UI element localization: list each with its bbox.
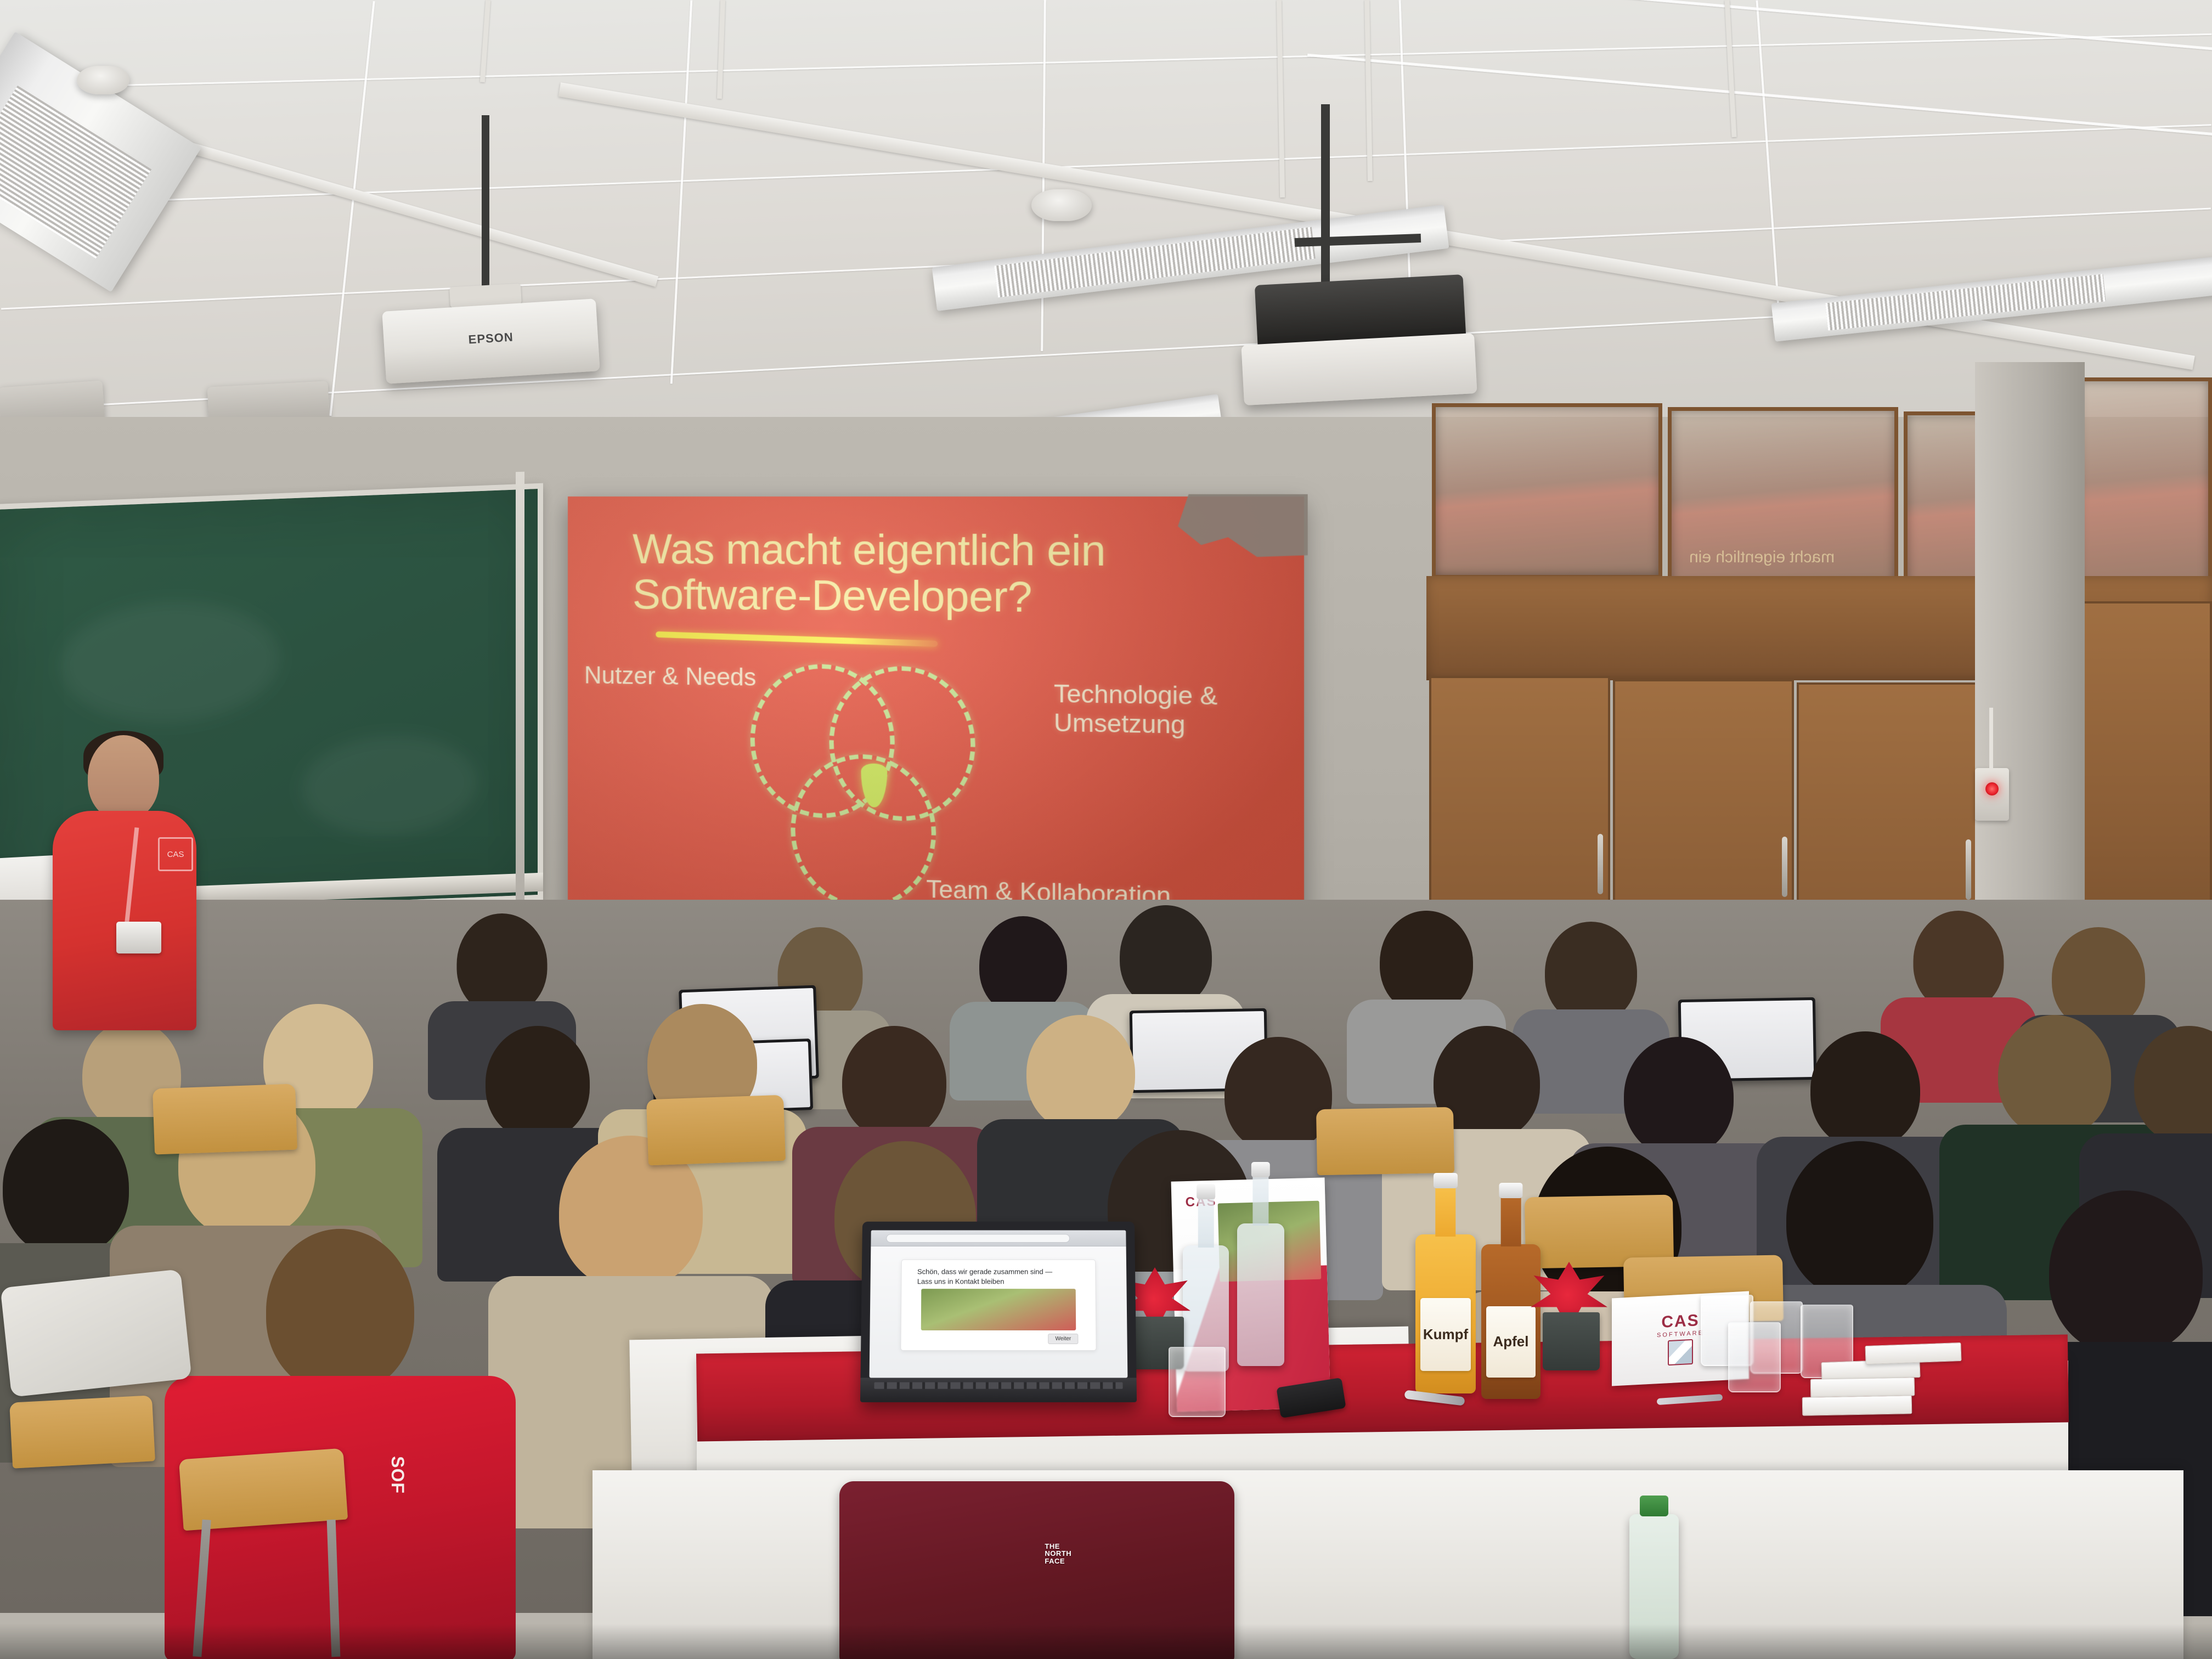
water-bottle[interactable] (1237, 1223, 1284, 1366)
plant-pot (1543, 1312, 1600, 1370)
presenter-head (88, 735, 159, 820)
chair[interactable] (9, 1395, 155, 1468)
webpage-heading: Schön, dass wir gerade zusammen sind — L… (917, 1267, 1080, 1286)
webpage-heading-line-2: Lass uns in Kontakt bleiben (917, 1277, 1080, 1286)
chair[interactable] (646, 1095, 786, 1166)
slide-title-line-2: Software-Developer? (633, 572, 1231, 623)
ceiling (0, 0, 2212, 450)
wall-panel-device[interactable] (1975, 768, 2009, 821)
webpage-card: Schön, dass wir gerade zusammen sind — L… (901, 1260, 1097, 1351)
cabinet-glass-door[interactable] (1432, 403, 1662, 579)
hoodie-logo-side-text: SOF (387, 1456, 408, 1494)
demo-laptop-screen[interactable]: Schön, dass wir gerade zusammen sind — L… (870, 1230, 1128, 1378)
juice-bottle-brand-label: Kumpf (1420, 1298, 1471, 1371)
north-face-logo-line-3: FACE (1045, 1558, 1071, 1565)
draped-cloth (0, 1269, 191, 1397)
slide-title: Was macht eigentlich ein Software-Develo… (633, 527, 1231, 623)
lecture-hall-photo: EPSON Was macht eigentlich ein Software-… (0, 0, 2212, 1659)
ceiling-tile-seam (670, 0, 693, 383)
webpage-heading-line-1: Schön, dass wir gerade zusammen sind — (917, 1267, 1080, 1277)
ceiling-rod (717, 0, 725, 99)
drinking-glass[interactable] (1728, 1322, 1781, 1392)
chair[interactable] (153, 1084, 297, 1154)
chair[interactable] (179, 1448, 348, 1531)
cabinet-handle[interactable] (1966, 839, 1971, 900)
wall-device-cable (1989, 708, 1993, 769)
ceiling-tile-seam (329, 1, 375, 416)
juice-bottle-orange[interactable]: Kumpf (1415, 1234, 1476, 1393)
juice-bottle-apple[interactable]: Apfel (1481, 1244, 1541, 1399)
chair[interactable] (1316, 1107, 1454, 1175)
projector-base (1241, 333, 1477, 405)
venn-label-technology-line-1: Technologie & (1054, 680, 1217, 711)
ceiling-tile-seam (1756, 1, 1779, 307)
bottle-cap (1499, 1183, 1522, 1198)
venn-label-technology-line-2: Umsetzung (1054, 708, 1217, 740)
cabinet-reflection-text: macht eigentlich ein (1689, 548, 1835, 567)
venn-label-users: Nutzer & Needs (584, 661, 757, 692)
floor-shadow (0, 1624, 2212, 1659)
giveaway-box[interactable] (1802, 1395, 1912, 1415)
cabinet-handle[interactable] (1598, 834, 1603, 894)
bottle-cap (1251, 1162, 1270, 1177)
ceiling-rod (480, 0, 490, 82)
cabinet-glass-door[interactable] (2075, 377, 2212, 597)
north-face-logo-line-2: NORTH (1045, 1550, 1071, 1557)
presenter: CAS (49, 735, 214, 1042)
presenter-badge (116, 922, 161, 953)
slide-title-line-1: Was macht eigentlich ein (633, 527, 1231, 575)
bottle-cap (1434, 1173, 1458, 1188)
projector-brand-label: EPSON (468, 330, 513, 347)
projector-mount-arm (482, 115, 489, 296)
giveaway-box[interactable] (1810, 1377, 1915, 1397)
drinking-glass[interactable] (1169, 1347, 1226, 1417)
ceiling-rod (1364, 0, 1373, 181)
bottle-cap (1640, 1496, 1668, 1516)
smoke-detector-icon (1031, 189, 1092, 221)
presenter-shirt-logo: CAS (158, 837, 193, 871)
webpage-button[interactable]: Weiter (1048, 1334, 1078, 1344)
demo-laptop[interactable]: Schön, dass wir gerade zusammen sind — L… (860, 1222, 1137, 1402)
north-face-logo-line-1: THE (1045, 1543, 1071, 1550)
browser-chrome (871, 1230, 1126, 1246)
audience-member-cas-hoodie (187, 1229, 494, 1613)
ceiling-rod (1724, 0, 1736, 137)
cas-logo-icon (1668, 1339, 1693, 1365)
ceiling-tile-seam (1, 33, 2212, 89)
ceiling-tile-seam (1307, 54, 2212, 136)
status-led-icon (1985, 782, 1999, 795)
slide-title-underline (656, 631, 938, 647)
projector-body: EPSON (382, 298, 600, 384)
smoke-detector-icon (77, 66, 129, 94)
venn-label-technology: Technologie & Umsetzung (1054, 680, 1217, 741)
cabinet-glass-door[interactable]: macht eigentlich ein (1668, 407, 1898, 588)
slide-content: Was macht eigentlich ein Software-Develo… (568, 496, 1304, 947)
cabinet-handle[interactable] (1782, 837, 1787, 897)
laptop-keyboard[interactable] (860, 1378, 1137, 1402)
north-face-logo-text: THE NORTH FACE (1045, 1543, 1071, 1565)
cas-tent-card-title: CAS (1661, 1311, 1699, 1332)
ceiling-rod (1277, 0, 1285, 198)
projection-screen: Was macht eigentlich ein Software-Develo… (568, 496, 1304, 947)
ceiling-tile-seam (1252, 0, 2212, 50)
juice-bottle-brand-label: Apfel (1486, 1306, 1536, 1378)
ceiling-tile-seam (1, 124, 2211, 207)
keyboard-key-row (874, 1383, 1122, 1389)
projector-mount-arm (1321, 104, 1330, 285)
webpage-photo (921, 1289, 1076, 1330)
browser-url-bar[interactable] (886, 1234, 1070, 1243)
giveaway-box[interactable] (1865, 1342, 1961, 1364)
chalkboard-frame-post (516, 472, 524, 922)
